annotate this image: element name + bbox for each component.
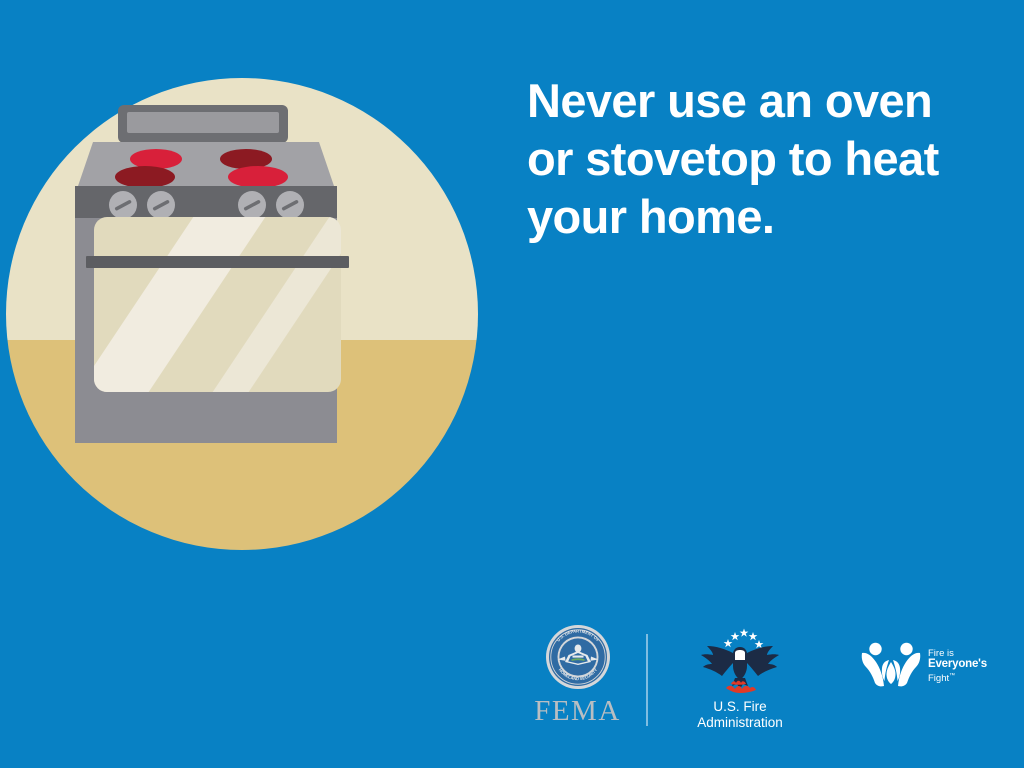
- fief-figures-icon: [860, 640, 922, 692]
- logo-bar: U.S. DEPARTMENT OF HOMELAND SECURITY FEM…: [505, 618, 1005, 743]
- stove-illustration: [6, 78, 478, 550]
- usfa-name: U.S. Fire Administration: [675, 699, 805, 730]
- fief-line-3-text: Fight: [928, 673, 949, 684]
- usfa-stars: [724, 629, 764, 649]
- burner-front-right: [228, 166, 288, 188]
- burner-front-left: [115, 166, 175, 188]
- usfa-name-line-1: U.S. Fire: [675, 699, 805, 715]
- fief-trademark: ™: [949, 673, 955, 679]
- fief-line-2: Everyone's: [928, 659, 987, 671]
- knob-1[interactable]: [109, 191, 137, 219]
- fief-line-3: Fight™: [928, 671, 987, 685]
- logo-divider: [646, 634, 648, 726]
- knob-3[interactable]: [238, 191, 266, 219]
- dhs-seal: U.S. DEPARTMENT OF HOMELAND SECURITY: [545, 624, 611, 690]
- usfa-logo[interactable]: U.S. Fire Administration: [675, 618, 805, 730]
- psa-poster: Never use an oven or stovetop to heat yo…: [0, 0, 1024, 768]
- headline-line-2: or stovetop to heat: [527, 130, 987, 188]
- fema-logo[interactable]: U.S. DEPARTMENT OF HOMELAND SECURITY FEM…: [515, 618, 640, 726]
- oven-door-window[interactable]: [66, 198, 378, 408]
- burner-back-left: [130, 149, 182, 169]
- oven-door-handle[interactable]: [86, 256, 349, 268]
- stove-illustration-svg: [6, 78, 478, 550]
- usfa-eagle-head: [735, 650, 745, 660]
- burner-back-right: [220, 149, 272, 169]
- headline-line-1: Never use an oven: [527, 72, 987, 130]
- stove-backsplash-panel: [127, 112, 279, 133]
- usfa-name-line-2: Administration: [675, 715, 805, 731]
- fema-wordmark: FEMA: [515, 696, 640, 726]
- fire-is-everyones-fight-logo[interactable]: Fire is Everyone's Fight™: [860, 618, 1005, 692]
- page-title: Never use an oven or stovetop to heat yo…: [527, 72, 987, 246]
- headline-line-3: your home.: [527, 188, 987, 246]
- knob-4[interactable]: [276, 191, 304, 219]
- usfa-eagle-icon: [697, 622, 783, 696]
- knob-2[interactable]: [147, 191, 175, 219]
- fief-text: Fire is Everyone's Fight™: [928, 648, 987, 685]
